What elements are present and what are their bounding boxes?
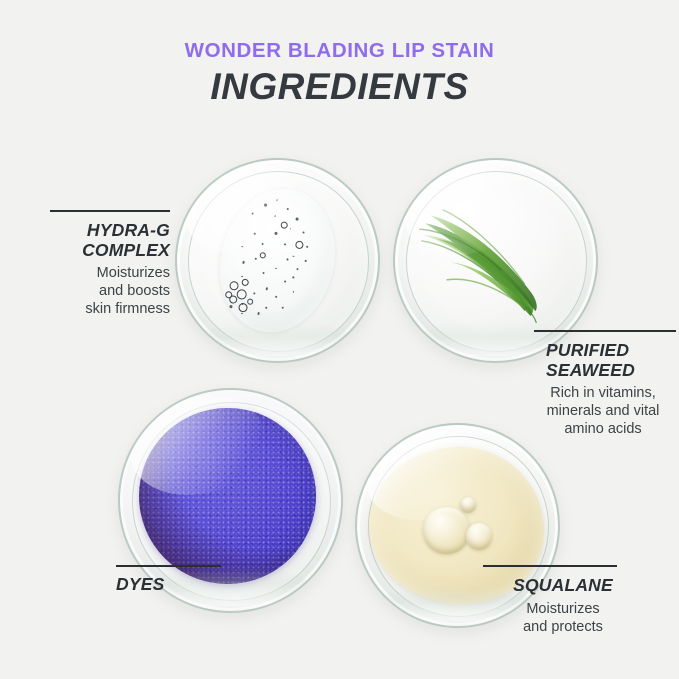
ingredient-description: Moisturizes and protects <box>483 600 643 636</box>
ingredient-description: Moisturizes and boosts skin firmness <box>10 264 170 318</box>
oil-droplet-large <box>423 507 469 553</box>
ingredient-name-line-2: SEAWEED <box>546 361 678 381</box>
description-line-3: amino acids <box>528 420 678 438</box>
ingredient-name: SQUALANE <box>483 576 643 596</box>
description-line-3: skin firmness <box>10 300 170 318</box>
label-connector-line <box>50 210 170 212</box>
label-connector-line <box>534 330 676 332</box>
label-connector-line <box>116 565 221 567</box>
description-line-2: and protects <box>483 618 643 636</box>
powder-edge-shadow <box>139 408 316 585</box>
label-connector-line <box>483 565 617 567</box>
oil-droplet-medium <box>466 523 492 549</box>
title-block: WONDER BLADING LIP STAIN INGREDIENTS <box>0 40 679 108</box>
ingredient-name-line-1: PURIFIED <box>546 341 678 361</box>
infographic-canvas: WONDER BLADING LIP STAIN INGREDIENTS <box>0 0 679 679</box>
seaweed-illustration <box>417 194 574 331</box>
petri-dish-glass <box>175 158 380 363</box>
description-line-1: Rich in vitamins, <box>528 384 678 402</box>
page-title: INGREDIENTS <box>0 66 679 109</box>
description-line-2: minerals and vital <box>528 402 678 420</box>
ingredient-dish-hydra-g-complex <box>175 158 380 363</box>
blue-dye-powder <box>139 408 316 585</box>
ingredient-description: Rich in vitamins, minerals and vital ami… <box>528 384 678 438</box>
ingredient-name-line-1: SQUALANE <box>483 576 643 596</box>
ingredient-name: DYES <box>98 575 268 595</box>
description-line-2: and boosts <box>10 282 170 300</box>
ingredient-name-line-1: DYES <box>116 575 268 595</box>
ingredient-label-purified-seaweed: PURIFIED SEAWEED Rich in vitamins, miner… <box>528 330 678 439</box>
ingredient-label-dyes: DYES <box>98 565 268 595</box>
product-name: WONDER BLADING LIP STAIN <box>0 40 679 63</box>
description-line-1: Moisturizes <box>10 264 170 282</box>
ingredient-name: PURIFIED SEAWEED <box>528 341 678 380</box>
ingredient-name: HYDRA-G COMPLEX <box>10 221 170 260</box>
description-line-1: Moisturizes <box>483 600 643 618</box>
ingredient-name-line-2: COMPLEX <box>10 241 170 261</box>
ingredient-name-line-1: HYDRA-G <box>10 221 170 241</box>
ingredient-label-squalane: SQUALANE Moisturizes and protects <box>483 565 643 636</box>
oil-droplet-small <box>460 497 476 513</box>
ingredient-label-hydra-g-complex: HYDRA-G COMPLEX Moisturizes and boosts s… <box>10 210 170 319</box>
